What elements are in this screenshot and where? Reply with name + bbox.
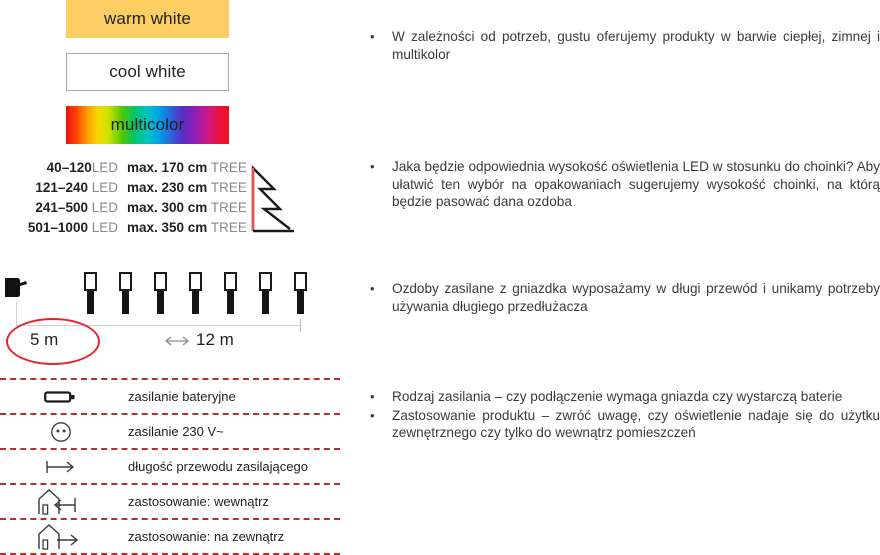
infographic-page: warm white cool white multicolor 40–120L… <box>0 0 880 552</box>
tree-height-unit: TREE <box>211 160 247 175</box>
swatch-multicolor: multicolor <box>66 106 229 144</box>
list-item: • W zależności od potrzeb, gustu oferuje… <box>370 28 880 63</box>
bullet-text: Jaka będzie odpowiednia wysokość oświetl… <box>392 158 880 211</box>
legend-label: zastosowanie: na zewnątrz <box>122 529 284 544</box>
led-count-unit: LED <box>92 160 118 175</box>
tree-height-unit: TREE <box>211 200 247 215</box>
swatch-label: cool white <box>109 62 186 82</box>
power-plug-icon <box>3 276 33 311</box>
list-item: zastosowanie: wewnątrz <box>0 485 340 518</box>
bullet-marker: • <box>370 280 392 298</box>
measure-end-tick <box>300 319 301 332</box>
tree-height-cell: max. 300 cm TREE <box>118 200 238 215</box>
right-column: • W zależności od potrzeb, gustu oferuje… <box>370 0 880 552</box>
tree-height-value: max. 300 cm <box>127 200 207 215</box>
icon-legend: zasilanie bateryjne zasilanie 230 V~ <box>0 378 340 555</box>
legend-label: zasilanie 230 V~ <box>122 424 224 439</box>
tree-height-value: max. 170 cm <box>127 160 207 175</box>
house-indoor-icon <box>0 487 122 517</box>
bulb-stem <box>157 291 164 314</box>
tree-height-cell: max. 230 cm TREE <box>118 180 238 195</box>
list-item: zastosowanie: na zewnątrz <box>0 520 340 553</box>
house-outdoor-icon <box>0 522 122 552</box>
list-item: • Jaka będzie odpowiednia wysokość oświe… <box>370 158 880 211</box>
bulb-stem <box>122 291 129 314</box>
led-count-cell: 121–240 LED <box>0 180 118 195</box>
christmas-tree-icon <box>250 165 312 242</box>
bullet-marker: • <box>370 158 392 176</box>
bullet-marker: • <box>370 407 392 425</box>
bulb-glass <box>224 272 237 291</box>
led-count-cell: 241–500 LED <box>0 200 118 215</box>
battery-icon <box>0 389 122 405</box>
swatch-warm-white: warm white <box>66 0 229 38</box>
legend-label: zasilanie bateryjne <box>122 389 236 404</box>
list-item: • Rodzaj zasilania – czy podłączenie wym… <box>370 388 880 406</box>
led-count-value: 40–120 <box>47 160 92 175</box>
bullet-marker: • <box>370 28 392 46</box>
bullet-text: Ozdoby zasilane z gniazdka wyposażamy w … <box>392 280 880 315</box>
list-item: • Ozdoby zasilane z gniazdka wyposażamy … <box>370 280 880 315</box>
bullet-group-power-usage: • Rodzaj zasilania – czy podłączenie wym… <box>370 388 880 442</box>
bulb-glass <box>294 272 307 291</box>
led-count-unit: LED <box>92 200 118 215</box>
bulb-glass <box>189 272 202 291</box>
left-column: warm white cool white multicolor 40–120L… <box>0 0 340 552</box>
bulb-glass <box>259 272 272 291</box>
list-item: zasilanie bateryjne <box>0 380 340 413</box>
bulb-glass <box>119 272 132 291</box>
tree-height-unit: TREE <box>211 180 247 195</box>
list-item: zasilanie 230 V~ <box>0 415 340 448</box>
swatch-label: warm white <box>104 9 191 29</box>
bullet-text: Zastosowanie produktu – zwróć uwagę, czy… <box>392 407 880 442</box>
led-count-cell: 40–120LED <box>0 160 118 175</box>
bulb-stem <box>297 291 304 314</box>
bullet-group-colors: • W zależności od potrzeb, gustu oferuje… <box>370 28 880 63</box>
led-count-value: 241–500 <box>35 200 88 215</box>
list-item: • Zastosowanie produktu – zwróć uwagę, c… <box>370 407 880 442</box>
led-count-cell: 501–1000 LED <box>0 220 118 235</box>
cable-length-diagram: 5 m 12 m <box>0 268 340 366</box>
cable-line <box>16 302 17 326</box>
bullet-group-cable: • Ozdoby zasilane z gniazdka wyposażamy … <box>370 280 880 315</box>
led-count-unit: LED <box>92 180 118 195</box>
double-arrow-icon <box>162 334 192 352</box>
lead-length-highlight-ellipse <box>6 318 100 365</box>
bulb-glass <box>84 272 97 291</box>
tree-height-unit: TREE <box>211 220 247 235</box>
color-swatch-group: warm white cool white multicolor <box>0 0 340 159</box>
legend-label: zastosowanie: wewnątrz <box>122 494 269 509</box>
tree-height-cell: max. 170 cm TREE <box>118 160 238 175</box>
bullet-marker: • <box>370 388 392 406</box>
power-socket-icon <box>0 420 122 444</box>
led-count-unit: LED <box>92 220 118 235</box>
legend-label: długość przewodu zasilającego <box>122 459 308 474</box>
bulb-glass <box>154 272 167 291</box>
bullet-text: W zależności od potrzeb, gustu oferujemy… <box>392 28 880 63</box>
bulb-stem <box>192 291 199 314</box>
led-count-value: 121–240 <box>35 180 88 195</box>
list-item: długość przewodu zasilającego <box>0 450 340 483</box>
tree-height-value: max. 230 cm <box>127 180 207 195</box>
led-count-value: 501–1000 <box>28 220 88 235</box>
cable-length-icon <box>0 458 122 476</box>
bulb-stem <box>227 291 234 314</box>
swatch-cool-white: cool white <box>66 53 229 91</box>
lit-length-label: 12 m <box>196 330 234 350</box>
tree-height-value: max. 350 cm <box>127 220 207 235</box>
bulb-stem <box>87 291 94 314</box>
bullet-group-height: • Jaka będzie odpowiednia wysokość oświe… <box>370 158 880 211</box>
bullet-text: Rodzaj zasilania – czy podłączenie wymag… <box>392 388 880 406</box>
swatch-label: multicolor <box>111 115 185 135</box>
tree-height-cell: max. 350 cm TREE <box>118 220 238 235</box>
bulb-stem <box>262 291 269 314</box>
